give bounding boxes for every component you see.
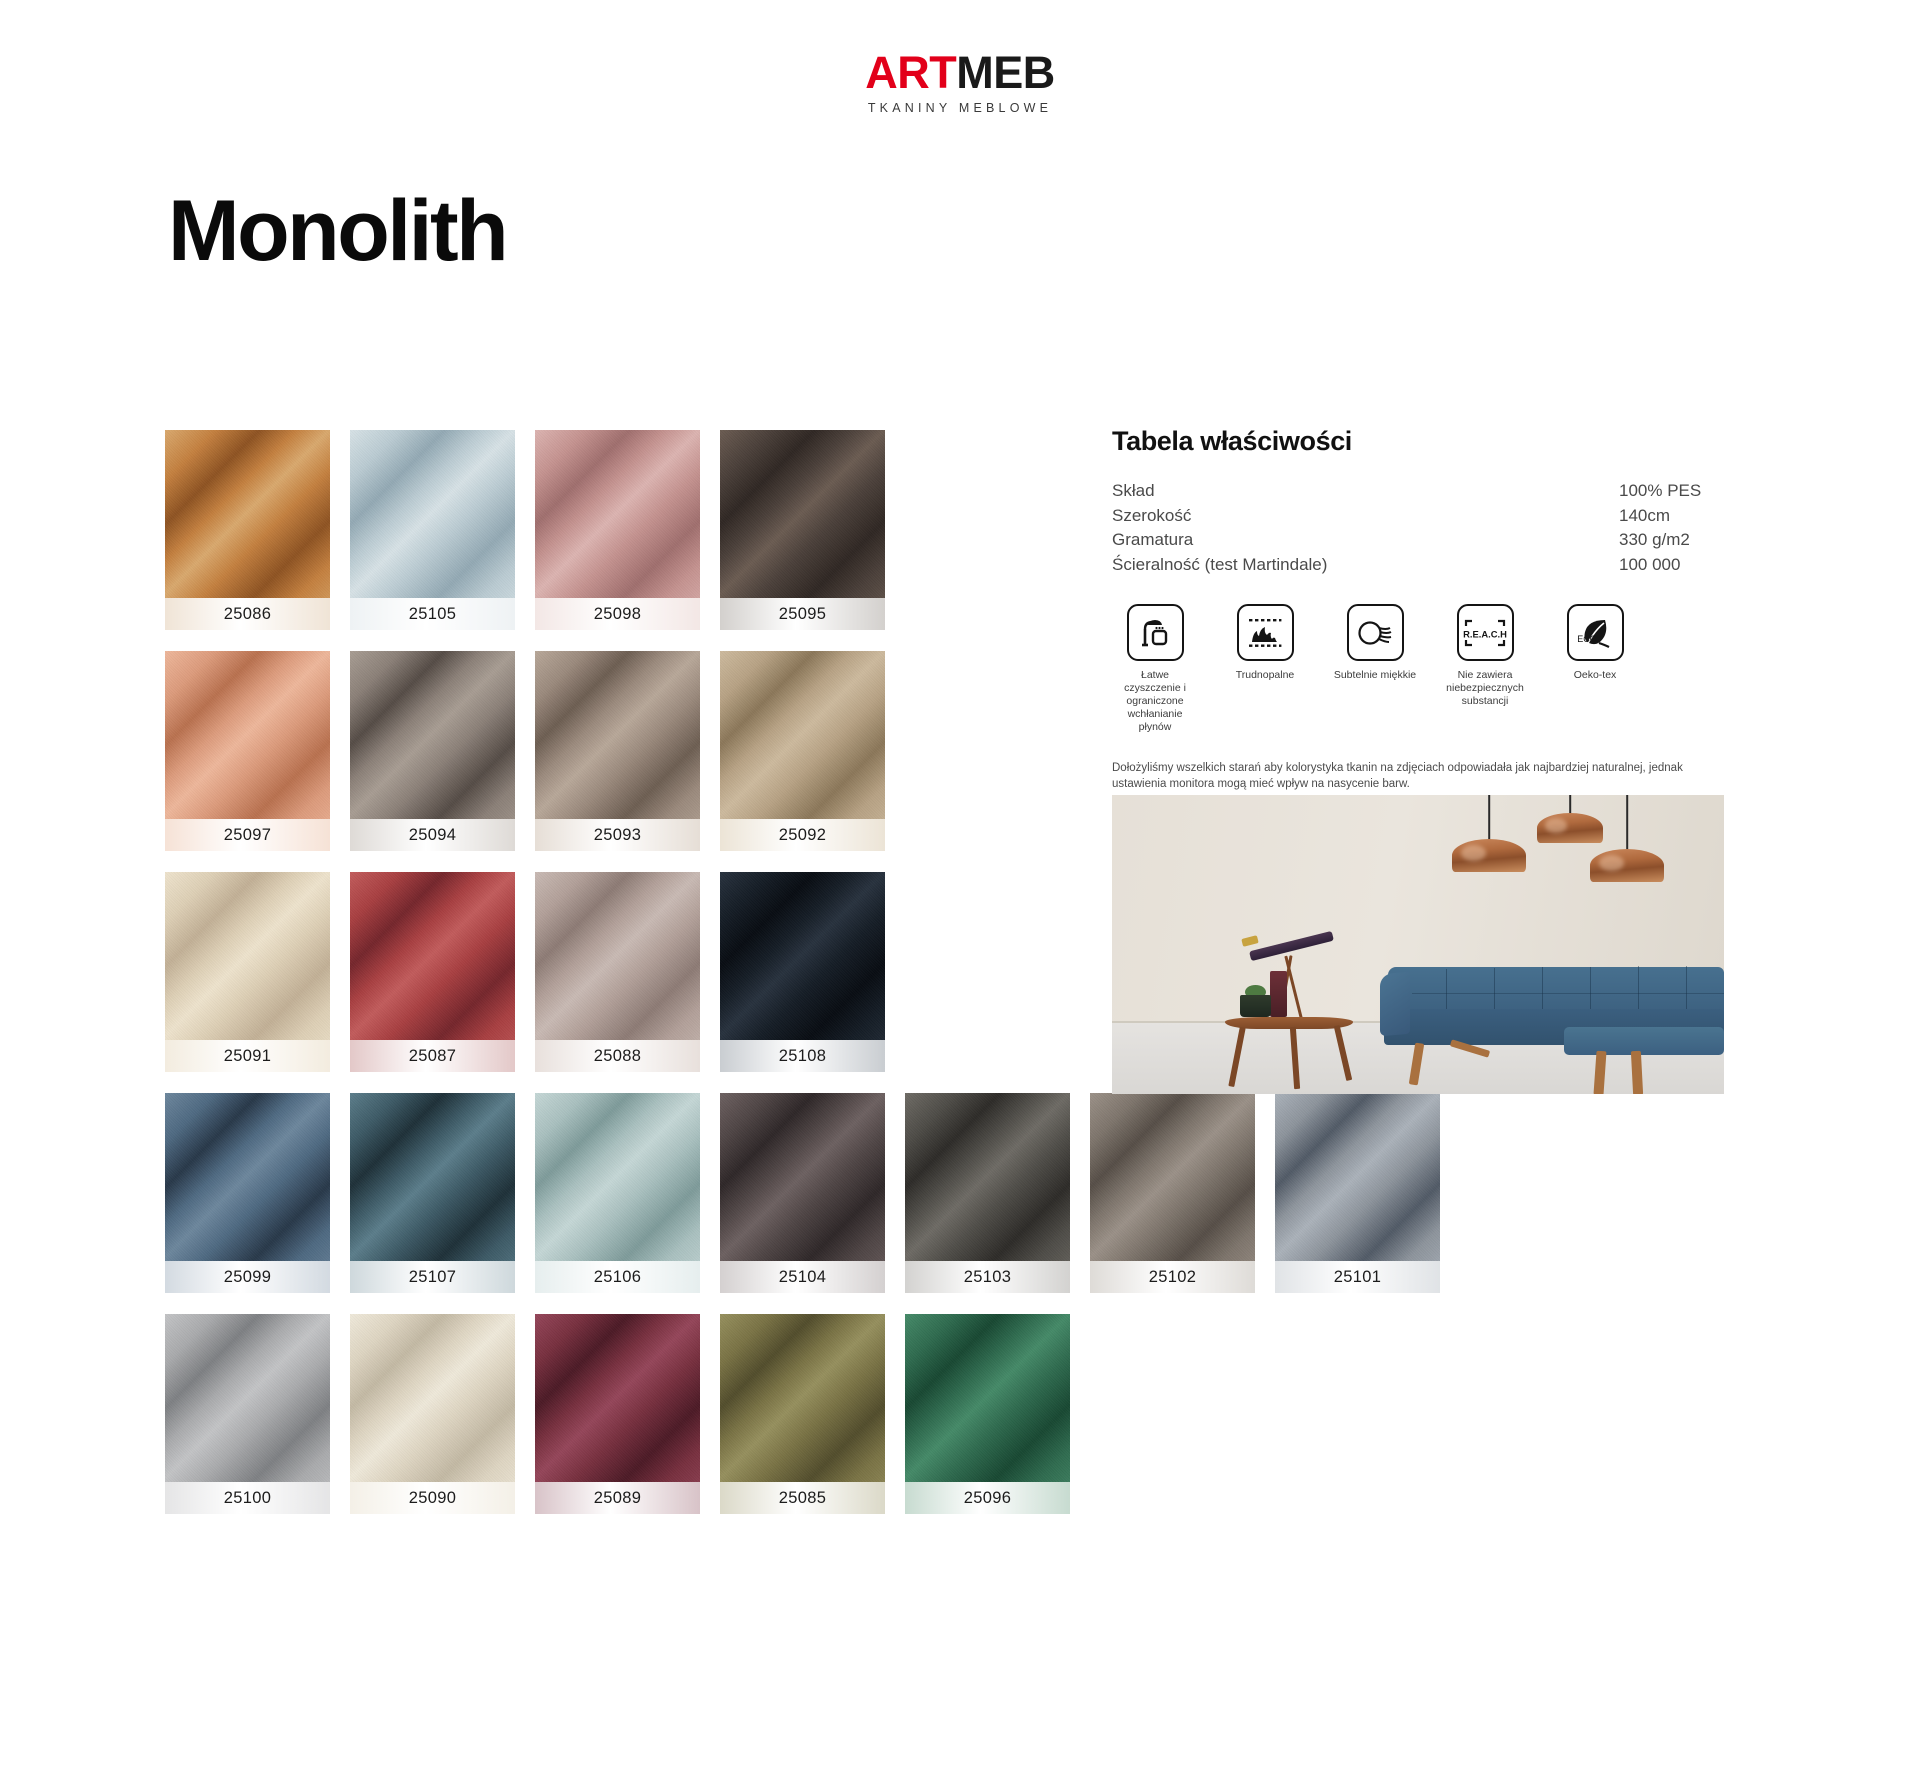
- swatch-25092[interactable]: 25092: [720, 651, 885, 851]
- swatch-code-label: 25099: [165, 1261, 330, 1293]
- brand-word-meb: MEB: [956, 47, 1055, 98]
- swatch-code-label: 25101: [1275, 1261, 1440, 1293]
- swatch-code-label: 25085: [720, 1482, 885, 1514]
- sofa-armrest: [1380, 972, 1410, 1037]
- swatch-25102[interactable]: 25102: [1090, 1093, 1255, 1293]
- feature-soft-touch: Subtelnie miękkie: [1332, 604, 1418, 734]
- swatch-code-label: 25093: [535, 819, 700, 851]
- swatch-code-label: 25108: [720, 1040, 885, 1072]
- swatch-code-label: 25089: [535, 1482, 700, 1514]
- swatch-25101[interactable]: 25101: [1275, 1093, 1440, 1293]
- easy-clean-icon: [1127, 604, 1184, 661]
- property-label: Skład: [1112, 479, 1155, 504]
- feature-caption: Oeko-tex: [1574, 669, 1617, 682]
- swatch-25089[interactable]: 25089: [535, 1314, 700, 1514]
- swatch-code-label: 25091: [165, 1040, 330, 1072]
- properties-panel: Tabela właściwości Skład100% PESSzerokoś…: [1112, 426, 1724, 822]
- feature-reach: R.E.A.C.HNie zawiera niebezpiecznych sub…: [1442, 604, 1528, 734]
- swatch-25097[interactable]: 25097: [165, 651, 330, 851]
- swatch-code-label: 25087: [350, 1040, 515, 1072]
- page-title: Monolith: [168, 188, 506, 274]
- swatch-25093[interactable]: 25093: [535, 651, 700, 851]
- property-value: 100 000: [1619, 553, 1724, 578]
- swatch-25091[interactable]: 25091: [165, 872, 330, 1072]
- swatch-code-label: 25092: [720, 819, 885, 851]
- swatch-25098[interactable]: 25098: [535, 430, 700, 630]
- swatch-25104[interactable]: 25104: [720, 1093, 885, 1293]
- swatch-code-label: 25105: [350, 598, 515, 630]
- brand-word-art: ART: [865, 47, 956, 98]
- feature-caption: Subtelnie miękkie: [1334, 669, 1416, 682]
- property-label: Szerokość: [1112, 504, 1191, 529]
- feature-caption: Trudnopalne: [1236, 669, 1295, 682]
- swatch-25088[interactable]: 25088: [535, 872, 700, 1072]
- property-row: Skład100% PES: [1112, 479, 1724, 504]
- swatch-code-label: 25102: [1090, 1261, 1255, 1293]
- property-row: Ścieralność (test Martindale)100 000: [1112, 553, 1724, 578]
- brand-tagline: TKANINY MEBLOWE: [0, 101, 1920, 115]
- swatch-25107[interactable]: 25107: [350, 1093, 515, 1293]
- swatch-25099[interactable]: 25099: [165, 1093, 330, 1293]
- svg-text:ECO: ECO: [1577, 634, 1597, 644]
- swatch-code-label: 25098: [535, 598, 700, 630]
- feature-eco-leaf: ECOOeko-tex: [1552, 604, 1638, 734]
- swatch-25095[interactable]: 25095: [720, 430, 885, 630]
- swatch-code-label: 25107: [350, 1261, 515, 1293]
- swatch-25090[interactable]: 25090: [350, 1314, 515, 1514]
- swatch-25108[interactable]: 25108: [720, 872, 885, 1072]
- swatch-25087[interactable]: 25087: [350, 872, 515, 1072]
- swatch-code-label: 25104: [720, 1261, 885, 1293]
- swatch-row: 25099251072510625104251032510225101: [165, 1093, 1725, 1293]
- swatch-code-label: 25103: [905, 1261, 1070, 1293]
- flame-retardant-icon: [1237, 604, 1294, 661]
- properties-heading: Tabela właściwości: [1112, 426, 1724, 457]
- svg-text:R.E.A.C.H: R.E.A.C.H: [1463, 628, 1507, 639]
- interior-photo: [1112, 795, 1724, 1094]
- disclaimer-paragraph-1: Dołożyliśmy wszelkich starań aby kolorys…: [1112, 760, 1720, 792]
- swatch-25085[interactable]: 25085: [720, 1314, 885, 1514]
- swatch-code-label: 25090: [350, 1482, 515, 1514]
- swatch-row: 2510025090250892508525096: [165, 1314, 1725, 1514]
- swatch-code-label: 25096: [905, 1482, 1070, 1514]
- swatch-code-label: 25095: [720, 598, 885, 630]
- swatch-25105[interactable]: 25105: [350, 430, 515, 630]
- swatch-code-label: 25097: [165, 819, 330, 851]
- feature-flame-retardant: Trudnopalne: [1222, 604, 1308, 734]
- swatch-code-label: 25094: [350, 819, 515, 851]
- brand-logo: ARTMEB TKANINY MEBLOWE: [0, 50, 1920, 115]
- property-row: Gramatura330 g/m2: [1112, 528, 1724, 553]
- swatch-25103[interactable]: 25103: [905, 1093, 1070, 1293]
- swatch-25094[interactable]: 25094: [350, 651, 515, 851]
- swatch-25086[interactable]: 25086: [165, 430, 330, 630]
- fabric-collection-page: ARTMEB TKANINY MEBLOWE Monolith 25086251…: [0, 0, 1920, 1768]
- swatch-code-label: 25088: [535, 1040, 700, 1072]
- property-label: Ścieralność (test Martindale): [1112, 553, 1327, 578]
- soft-touch-icon: [1347, 604, 1404, 661]
- feature-caption: Łatwe czyszczenie i ograniczone wchłania…: [1112, 669, 1198, 734]
- swatch-25096[interactable]: 25096: [905, 1314, 1070, 1514]
- property-row: Szerokość140cm: [1112, 504, 1724, 529]
- property-label: Gramatura: [1112, 528, 1193, 553]
- pendant-lamp-1: [1452, 795, 1526, 873]
- sofa-chaise: [1564, 1027, 1724, 1055]
- swatch-code-label: 25100: [165, 1482, 330, 1514]
- property-value: 330 g/m2: [1619, 528, 1724, 553]
- feature-icon-row: Łatwe czyszczenie i ograniczone wchłania…: [1112, 604, 1724, 734]
- reach-icon: R.E.A.C.H: [1457, 604, 1514, 661]
- swatch-code-label: 25106: [535, 1261, 700, 1293]
- pendant-lamp-3: [1590, 795, 1664, 887]
- eco-leaf-icon: ECO: [1567, 604, 1624, 661]
- plant-pot: [1240, 995, 1271, 1017]
- brand-wordmark: ARTMEB: [0, 50, 1920, 95]
- swatch-25106[interactable]: 25106: [535, 1093, 700, 1293]
- properties-table: Skład100% PESSzerokość140cmGramatura330 …: [1112, 479, 1724, 577]
- decor-jar: [1270, 971, 1287, 1017]
- swatch-code-label: 25086: [165, 598, 330, 630]
- feature-easy-clean: Łatwe czyszczenie i ograniczone wchłania…: [1112, 604, 1198, 734]
- feature-caption: Nie zawiera niebezpiecznych substancji: [1442, 669, 1528, 708]
- sofa-tuft-line-h1: [1412, 993, 1724, 994]
- property-value: 140cm: [1619, 504, 1724, 529]
- swatch-25100[interactable]: 25100: [165, 1314, 330, 1514]
- property-value: 100% PES: [1619, 479, 1724, 504]
